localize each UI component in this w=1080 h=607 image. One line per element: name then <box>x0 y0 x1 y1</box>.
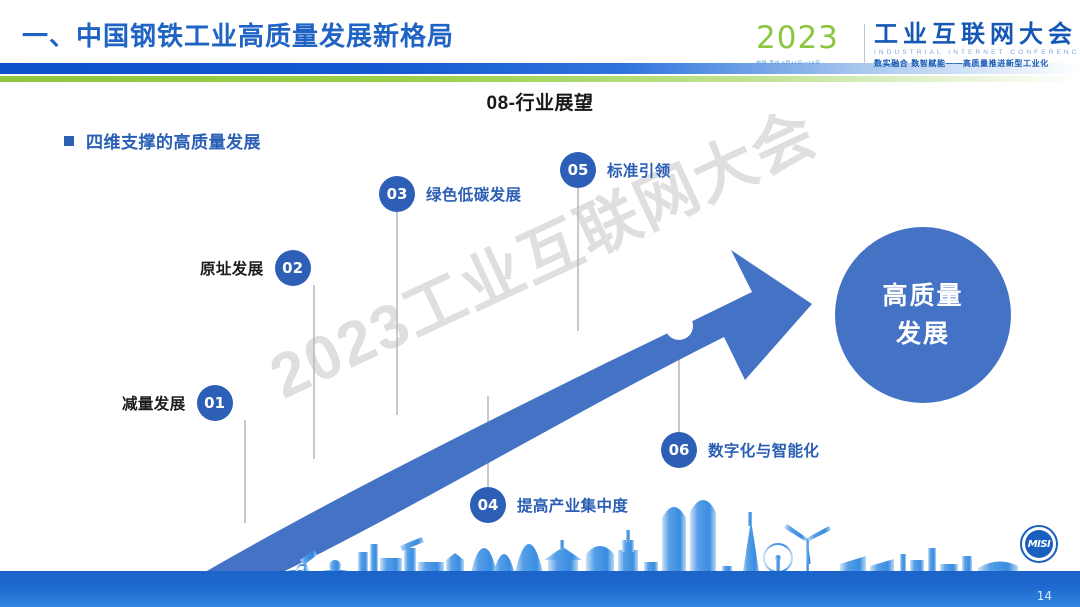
node-06-label: 数字化与智能化 <box>708 439 819 461</box>
misi-logo-text: MISI <box>1025 530 1053 558</box>
footer-band <box>0 571 1080 607</box>
node-01-badge: 01 <box>197 385 233 421</box>
node-06[interactable]: 06 数字化与智能化 <box>661 432 819 468</box>
node-04-badge: 04 <box>470 487 506 523</box>
node-05[interactable]: 05 标准引领 <box>560 152 671 188</box>
page-number: 14 <box>1037 589 1052 603</box>
goal-line-2: 发展 <box>896 315 950 353</box>
node-02[interactable]: 原址发展 02 <box>200 250 311 286</box>
node-01-label: 减量发展 <box>122 392 186 414</box>
misi-logo: MISI <box>1020 525 1058 563</box>
node-02-badge: 02 <box>275 250 311 286</box>
node-02-label: 原址发展 <box>200 257 264 279</box>
slide: 一、中国钢铁工业高质量发展新格局 2023 中国·苏州 8月14日—16日 工业… <box>0 0 1080 607</box>
growth-arrow <box>205 250 812 594</box>
node-04-label: 提高产业集中度 <box>517 494 628 516</box>
node-05-label: 标准引领 <box>607 159 671 181</box>
goal-line-1: 高质量 <box>882 277 963 315</box>
goal-circle[interactable]: 高质量 发展 <box>835 227 1011 403</box>
node-05-badge: 05 <box>560 152 596 188</box>
node-03-badge: 03 <box>379 176 415 212</box>
node-03-label: 绿色低碳发展 <box>426 183 521 205</box>
node-01[interactable]: 减量发展 01 <box>122 385 233 421</box>
node-03[interactable]: 03 绿色低碳发展 <box>379 176 521 212</box>
node-06-badge: 06 <box>661 432 697 468</box>
node-04[interactable]: 04 提高产业集中度 <box>470 487 628 523</box>
